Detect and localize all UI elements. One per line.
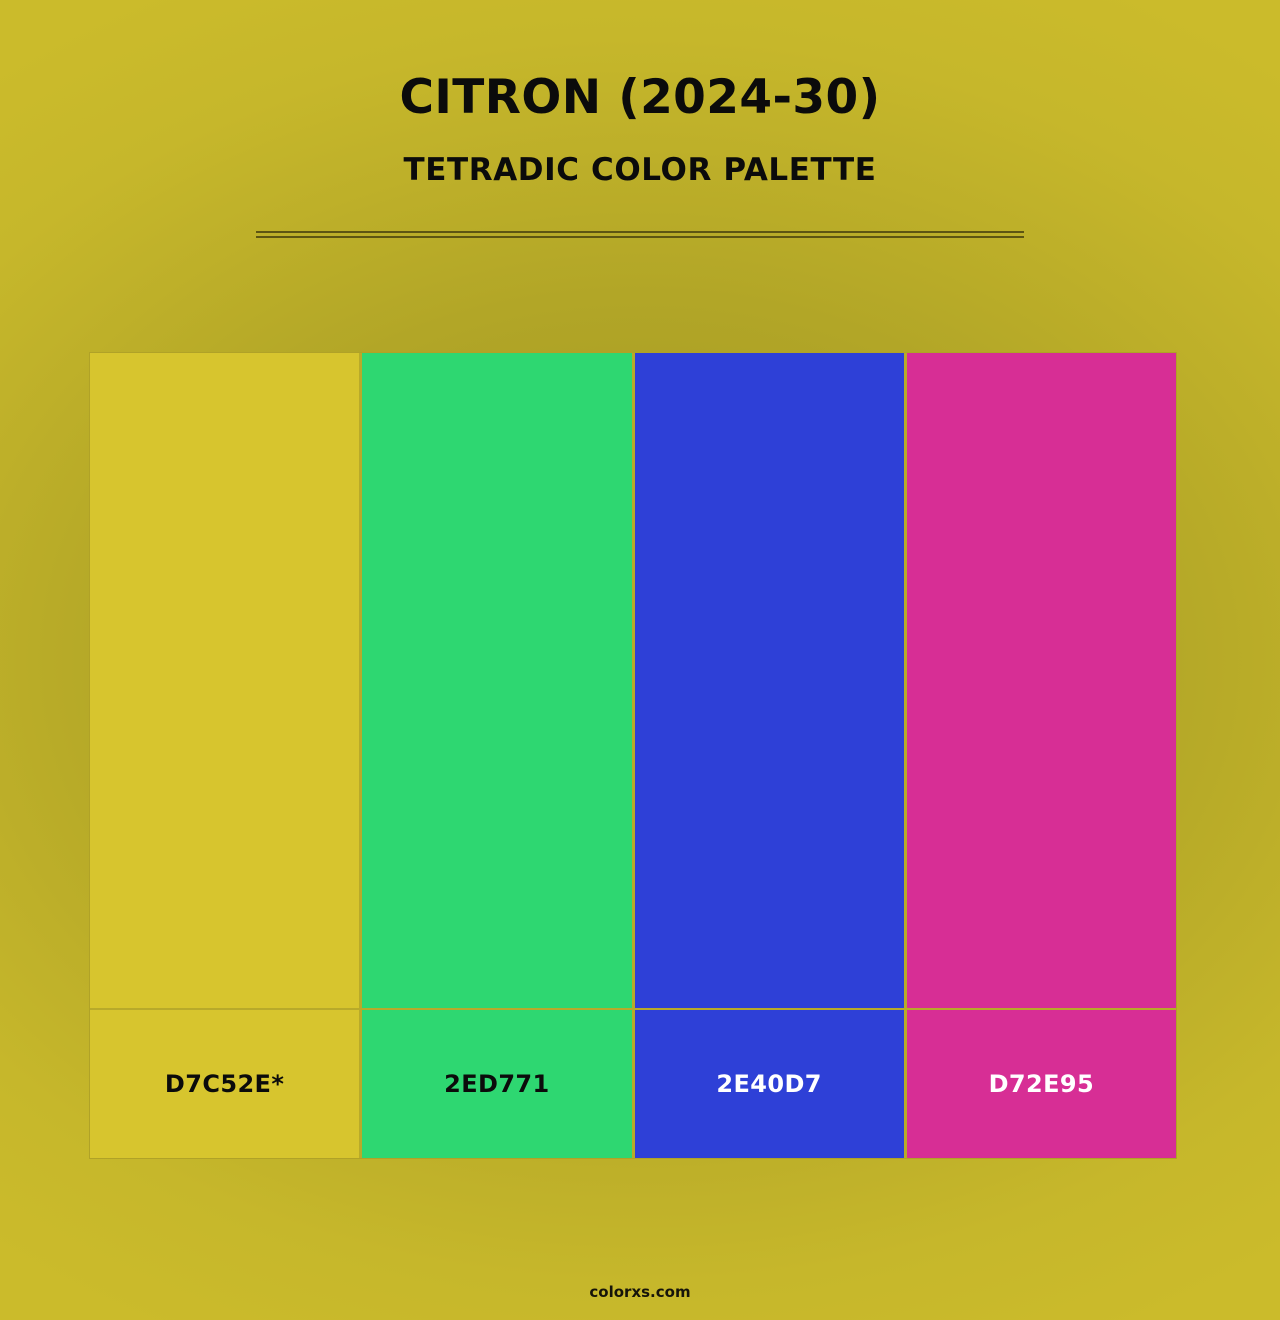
page-subtitle: TETRADIC COLOR PALETTE xyxy=(0,121,1280,186)
swatch-block-4[interactable] xyxy=(904,353,1176,1008)
palette-panel: D7C52E* 2ED771 2E40D7 D72E95 xyxy=(89,352,1177,1159)
swatch-label-cell-1[interactable]: D7C52E* xyxy=(90,1010,359,1158)
divider-line-top xyxy=(256,231,1024,233)
color-palette-page: CITRON (2024-30) TETRADIC COLOR PALETTE … xyxy=(0,0,1280,1320)
swatch-hex-label-2: 2ED771 xyxy=(444,1072,550,1096)
swatch-row xyxy=(90,353,1176,1008)
header-divider xyxy=(256,231,1024,238)
swatch-block-1[interactable] xyxy=(90,353,359,1008)
swatch-hex-label-3: 2E40D7 xyxy=(716,1072,822,1096)
swatch-block-3[interactable] xyxy=(632,353,904,1008)
page-title: CITRON (2024-30) xyxy=(0,0,1280,121)
page-header: CITRON (2024-30) TETRADIC COLOR PALETTE xyxy=(0,0,1280,186)
swatch-hex-label-4: D72E95 xyxy=(989,1072,1095,1096)
swatch-label-cell-4[interactable]: D72E95 xyxy=(904,1010,1176,1158)
swatch-label-cell-3[interactable]: 2E40D7 xyxy=(632,1010,904,1158)
swatch-label-cell-2[interactable]: 2ED771 xyxy=(359,1010,631,1158)
label-row: D7C52E* 2ED771 2E40D7 D72E95 xyxy=(90,1008,1176,1158)
page-footer: colorxs.com xyxy=(0,1282,1280,1320)
footer-site-label: colorxs.com xyxy=(589,1283,690,1301)
swatch-hex-label-1: D7C52E* xyxy=(165,1072,284,1096)
swatch-block-2[interactable] xyxy=(359,353,631,1008)
divider-line-bottom xyxy=(256,236,1024,238)
